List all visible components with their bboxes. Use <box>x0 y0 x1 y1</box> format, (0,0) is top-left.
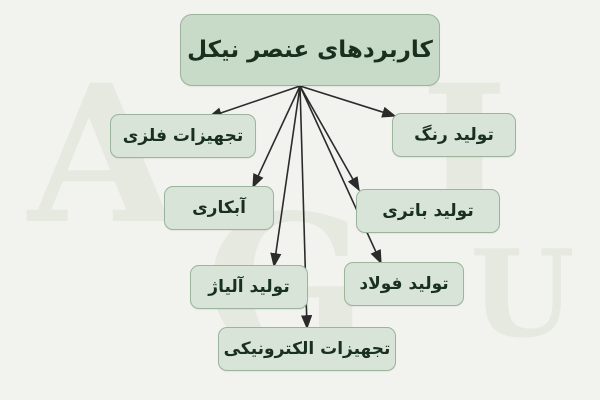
node-alloy-production[interactable]: تولید آلیاژ <box>190 265 308 309</box>
connector-root-to-paint-production <box>300 86 395 116</box>
connector-root-to-electroplating <box>253 86 300 187</box>
node-electronic-equipment[interactable]: تجهیزات الکترونیکی <box>218 327 396 371</box>
connector-root-to-alloy-production <box>274 86 300 266</box>
watermark-letter-u: U <box>470 235 575 355</box>
diagram-canvas: A G I U کاربردهای عنصر نیکل تجهیزات فلزی… <box>0 0 600 400</box>
node-paint-production[interactable]: تولید رنگ <box>392 113 516 157</box>
root-node[interactable]: کاربردهای عنصر نیکل <box>180 14 440 86</box>
node-steel-production[interactable]: تولید فولاد <box>344 262 464 306</box>
connector-root-to-battery-production <box>300 86 359 190</box>
node-battery-production[interactable]: تولید باتری <box>356 189 500 233</box>
node-metal-equipment[interactable]: تجهیزات فلزی <box>110 114 256 158</box>
connector-root-to-metal-equipment <box>209 86 300 117</box>
connector-root-to-steel-production <box>300 86 381 263</box>
node-electroplating[interactable]: آبکاری <box>164 186 274 230</box>
